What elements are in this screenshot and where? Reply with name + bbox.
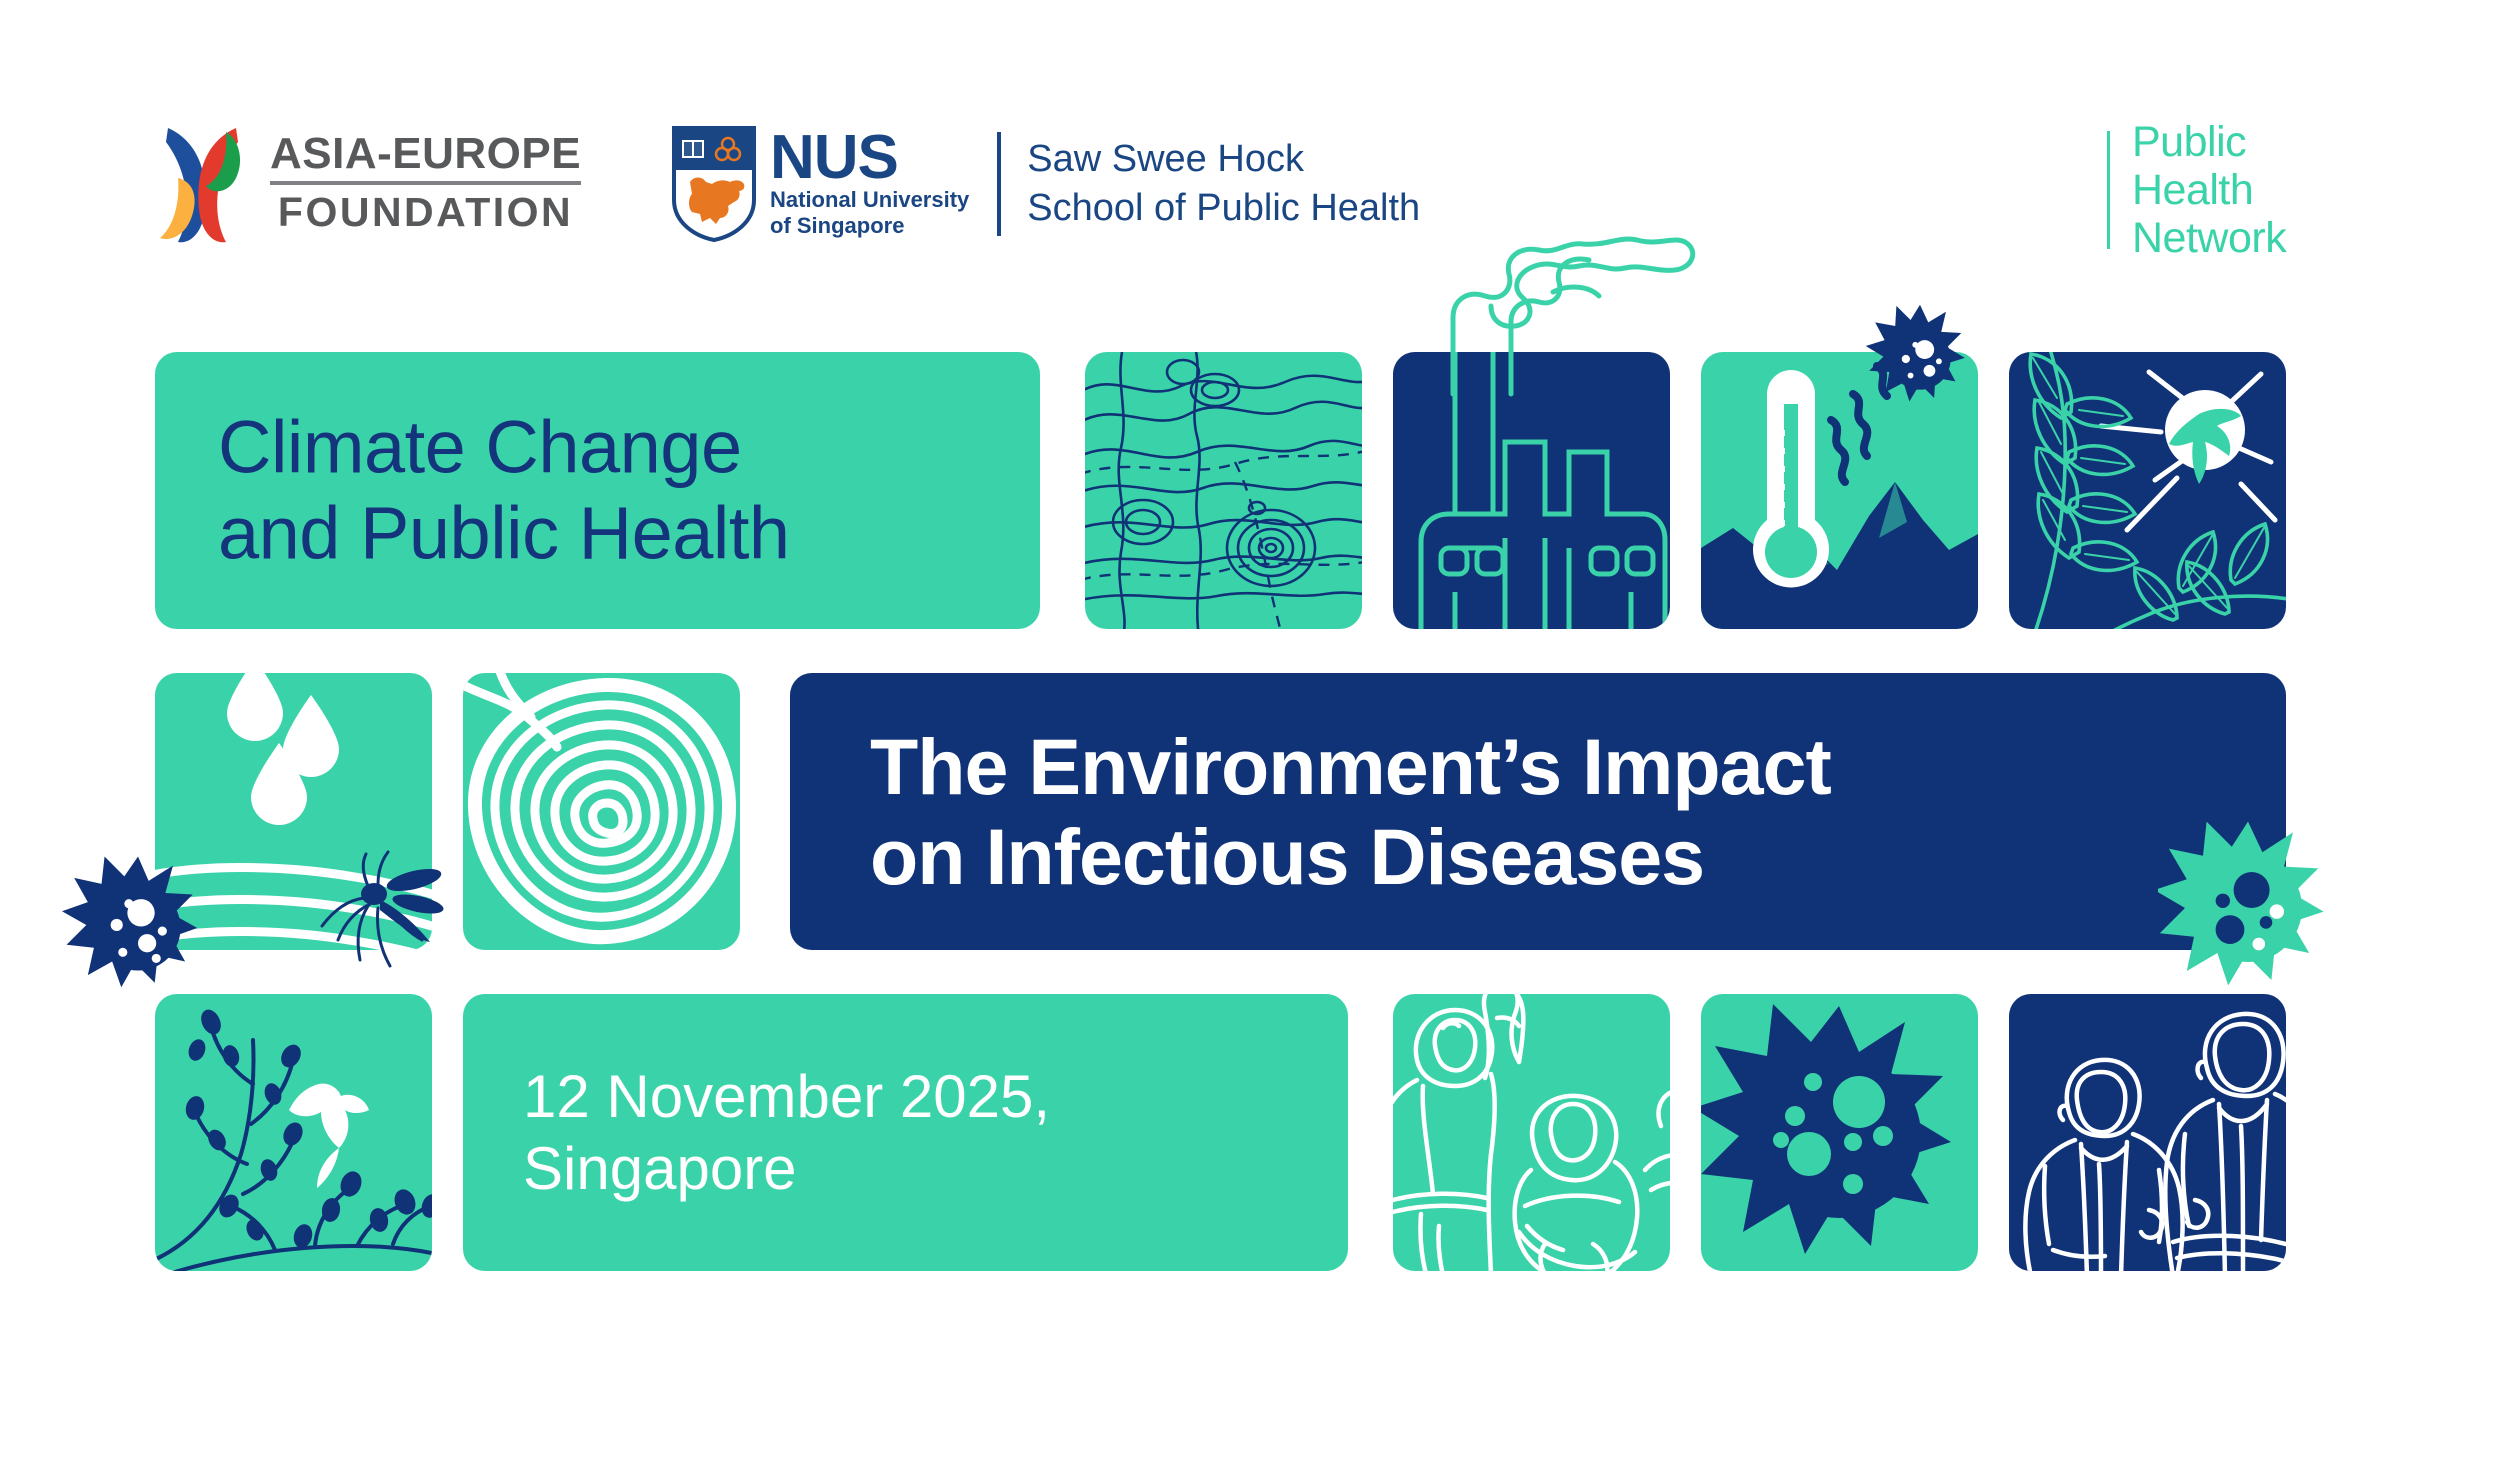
virus-tile [1701,994,1978,1271]
two-men-portrait-icon [2009,994,2286,1271]
people-group-icon [1393,994,1670,1271]
school-line1: Saw Swee Hock [1027,135,1420,184]
thermometer-mountains-icon [1701,352,1978,629]
water-droplets-tile [155,673,432,950]
headline-tile: The Environment’s Impact on Infectious D… [790,673,2286,950]
date-line1: 12 November 2025, [523,1061,1050,1133]
aef-line1: ASIA-EUROPE [270,131,581,186]
phn-line2: Health [2132,166,2286,214]
topographic-map-tile [1085,352,1362,629]
nus-sub-line1: National University [770,187,969,213]
two-men-tile [2009,994,2286,1271]
nus-wordmark: NUS National University of Singapore [770,129,969,240]
public-health-network-logo[interactable]: Public Health Network [2107,118,2286,262]
logo-divider [997,132,1001,236]
asia-europe-foundation-wordmark: ASIA-EUROPE FOUNDATION [270,131,581,236]
asia-europe-foundation-logo[interactable]: ASIA-EUROPE FOUNDATION [148,120,581,246]
series-title: Climate Change and Public Health [218,404,790,577]
event-banner: ASIA-EUROPE FOUNDATION [0,0,2500,1458]
partner-logo-bar: ASIA-EUROPE FOUNDATION [0,118,2500,258]
thermometer-tile [1701,352,1978,629]
branches-flying-bird-icon [155,994,432,1271]
asia-europe-foundation-mark-icon [148,120,256,246]
branches-bird-tile [155,994,432,1271]
tree-rings-tile [463,673,740,950]
nus-crest-icon [672,126,756,242]
leaves-tile [2009,352,2286,629]
phn-wordmark: Public Health Network [2132,118,2286,262]
aef-line2: FOUNDATION [270,185,581,235]
date-location: 12 November 2025, Singapore [523,1061,1050,1205]
topographic-contour-lines-icon [1085,352,1362,629]
series-title-line2: and Public Health [218,491,790,578]
factory-smokestack-icon [1393,352,1670,629]
nus-abbrev: NUS [770,129,969,188]
virus-icon [1701,994,1978,1271]
series-title-tile: Climate Change and Public Health [155,352,1040,629]
date-location-tile: 12 November 2025, Singapore [463,994,1348,1271]
phn-line3: Network [2132,214,2286,262]
event-headline: The Environment’s Impact on Infectious D… [870,721,1831,901]
headline-line2: on Infectious Diseases [870,812,1831,902]
phn-divider-bar [2107,131,2110,249]
water-droplets-icon [155,673,432,950]
school-line2: School of Public Health [1027,184,1420,233]
nus-sub-line2: of Singapore [770,213,969,239]
factory-tile [1393,352,1670,629]
saw-swee-hock-school-name: Saw Swee Hock School of Public Health [1027,135,1420,232]
people-lineart-tile [1393,994,1670,1271]
tree-rings-icon [463,673,740,950]
phn-line1: Public [2132,118,2286,166]
nus-logo[interactable]: NUS National University of Singapore Saw… [672,126,1420,242]
date-line2: Singapore [523,1133,1050,1205]
leaves-sun-bird-icon [2009,352,2286,629]
headline-line1: The Environment’s Impact [870,721,1831,811]
series-title-line1: Climate Change [218,404,790,491]
